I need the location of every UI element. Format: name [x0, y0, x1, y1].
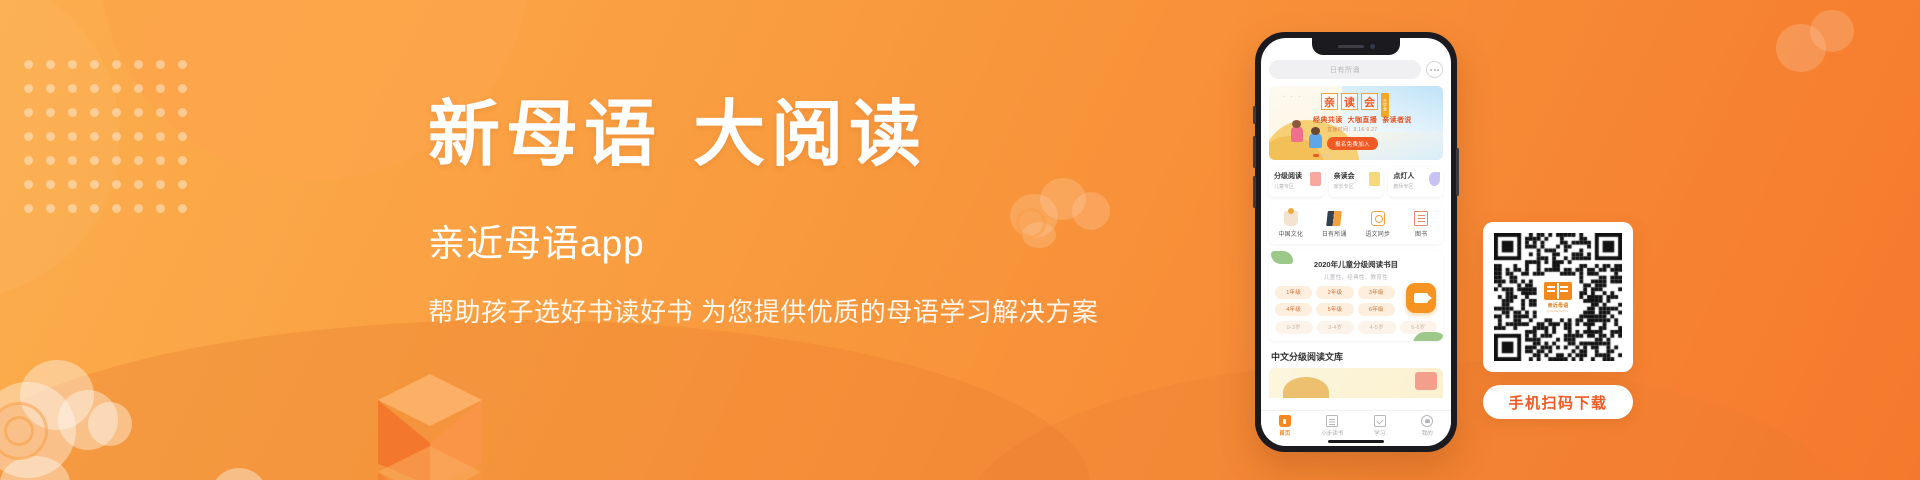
- quick-item-label: 语文同步: [1365, 229, 1390, 238]
- promo-feature: 亲读者说: [1382, 115, 1412, 125]
- search-placeholder: 日有所诵: [1330, 65, 1360, 75]
- promo-feature: 经典共读: [1313, 115, 1343, 125]
- qr-code-card[interactable]: 亲近母语 QINJIN MUYU: [1483, 222, 1633, 372]
- promo-banner: 新母语 大阅读 亲近母语app 帮助孩子选好书读好书 为您提供优质的母语学习解决…: [0, 0, 1920, 480]
- quick-item-culture[interactable]: 中国文化: [1269, 211, 1313, 238]
- front-camera: [1370, 44, 1375, 49]
- age-tag[interactable]: 0-3岁: [1275, 321, 1313, 334]
- booklist-card: 2020年儿童分级阅读书目 儿童性、经典性、教育性 1年级 2年级 3年级 4年…: [1269, 251, 1443, 341]
- promo-card[interactable]: · · · 亲 读 会 开学季 经典共读 大咖直播 亲读者说 直播时间：9.16…: [1269, 86, 1443, 160]
- tab-home[interactable]: 首页: [1261, 415, 1309, 437]
- home-icon: [1279, 415, 1291, 427]
- promo-title-char: 读: [1341, 93, 1358, 110]
- phone-screen: 日有所诵 · · · 亲 读 会: [1261, 38, 1451, 446]
- profile-icon: [1421, 415, 1433, 427]
- tab-label: 学习: [1374, 429, 1385, 437]
- booklist-subtitle: 儿童性、经典性、教育性: [1275, 273, 1437, 281]
- brand-logo: 亲近母语 QINJIN MUYU: [1537, 276, 1579, 318]
- library-title: 中文分级阅读文库: [1269, 348, 1443, 368]
- age-tag[interactable]: 3-4岁: [1317, 321, 1355, 334]
- book-badge-icon: [1310, 172, 1321, 186]
- grade-tag[interactable]: 2年级: [1316, 286, 1353, 299]
- brand-pinyin: QINJIN MUYU: [1547, 310, 1568, 313]
- decor-cloud-top-right: [1776, 10, 1896, 90]
- search-row: 日有所诵: [1269, 60, 1443, 79]
- library-square-decor: [1415, 372, 1437, 390]
- grade-tag[interactable]: 5年级: [1316, 303, 1353, 316]
- promo-title-char: 亲: [1321, 93, 1338, 110]
- quick-item-recite[interactable]: 日有所诵: [1313, 211, 1357, 238]
- promo-date: 直播时间：9.16-9.27: [1327, 126, 1377, 133]
- study-icon: [1374, 415, 1386, 427]
- quick-item-books[interactable]: 图书: [1400, 211, 1444, 238]
- quick-item-label: 中国文化: [1278, 229, 1303, 238]
- promo-child-a: [1291, 126, 1303, 142]
- phone-mute-switch: [1253, 106, 1256, 124]
- grade-tag-grid: 1年级 2年级 3年级 4年级 5年级 6年级: [1275, 286, 1395, 316]
- library-card[interactable]: [1269, 368, 1443, 398]
- home-indicator: [1328, 440, 1384, 443]
- age-tag[interactable]: 4-5岁: [1358, 321, 1396, 334]
- brand-name: 亲近母语: [1548, 302, 1569, 309]
- library-arc-decor: [1283, 377, 1329, 398]
- sync-icon: [1371, 211, 1385, 226]
- phone-power-button: [1456, 148, 1459, 196]
- download-button[interactable]: 手机扫码下载: [1483, 385, 1633, 419]
- age-tag-grid: 0-3岁 3-4岁 4-5岁 5-6岁: [1275, 321, 1437, 334]
- read-icon: [1326, 415, 1338, 427]
- ellipsis-icon[interactable]: [1426, 61, 1443, 78]
- qr-download-block: 亲近母语 QINJIN MUYU 手机扫码下载: [1483, 222, 1633, 419]
- decor-cloud-small: [60, 444, 180, 480]
- video-play-icon[interactable]: [1406, 283, 1436, 313]
- phone-notch: [1312, 38, 1400, 55]
- tab-label: 我的: [1422, 429, 1433, 437]
- speaker-grille: [1338, 45, 1364, 48]
- grade-tag[interactable]: 1年级: [1275, 286, 1312, 299]
- open-book-icon: [1543, 281, 1573, 301]
- banner-tagline: 帮助孩子选好书读好书 为您提供优质的母语学习解决方案: [428, 296, 1148, 330]
- category-card-teacher[interactable]: 点灯人 教师专区: [1388, 167, 1443, 197]
- carousel-dots[interactable]: [1313, 154, 1329, 157]
- promo-feature: 大咖直播: [1348, 115, 1378, 125]
- decor-dot-grid: [24, 60, 200, 228]
- promo-ribbon: 开学季: [1381, 93, 1389, 117]
- promo-title: 亲 读 会 开学季: [1321, 93, 1389, 117]
- category-row: 分级阅读 儿童专区 亲读会 家长专区 点灯人 教师专区: [1269, 167, 1443, 197]
- promo-cta-button[interactable]: 报名免费加入: [1327, 137, 1378, 150]
- birds-icon: · · ·: [1283, 94, 1302, 100]
- book-icon: [1414, 211, 1428, 226]
- promo-child-b: [1309, 133, 1322, 148]
- leaf-decor-icon: [1271, 251, 1293, 264]
- phone-mockup: 日有所诵 · · · 亲 读 会: [1255, 32, 1457, 452]
- lamp-badge-icon: [1429, 172, 1440, 186]
- banner-headline: 新母语 大阅读: [428, 92, 1148, 176]
- tab-profile[interactable]: 我的: [1404, 415, 1452, 437]
- booklist-title: 2020年儿童分级阅读书目: [1275, 259, 1437, 270]
- banner-subhead: 亲近母语app: [428, 222, 1148, 266]
- book-badge-icon: [1369, 172, 1380, 186]
- quick-item-label: 日有所诵: [1322, 229, 1347, 238]
- tab-label: 首页: [1279, 429, 1290, 437]
- decor-cube-small: [378, 446, 448, 480]
- grade-tag[interactable]: 3年级: [1358, 286, 1395, 299]
- quick-icon-row: 中国文化 日有所诵 语文同步 图书: [1269, 204, 1443, 244]
- phone-volume-down: [1253, 176, 1256, 208]
- app-home-screen: 日有所诵 · · · 亲 读 会: [1261, 38, 1451, 446]
- banner-copy: 新母语 大阅读 亲近母语app 帮助孩子选好书读好书 为您提供优质的母语学习解决…: [428, 92, 1148, 330]
- grade-tag[interactable]: 6年级: [1358, 303, 1395, 316]
- quick-item-sync[interactable]: 语文同步: [1356, 211, 1400, 238]
- phone-volume-up: [1253, 136, 1256, 168]
- promo-title-char: 会: [1361, 93, 1378, 110]
- culture-icon: [1284, 211, 1298, 226]
- grade-tag[interactable]: 4年级: [1275, 303, 1312, 316]
- quick-item-label: 图书: [1415, 229, 1427, 238]
- tab-label: 小步读书: [1321, 429, 1343, 437]
- category-card-graded-reading[interactable]: 分级阅读 儿童专区: [1269, 167, 1324, 197]
- tab-read[interactable]: 小步读书: [1309, 415, 1357, 437]
- recite-icon: [1326, 211, 1342, 226]
- category-card-parent-club[interactable]: 亲读会 家长专区: [1329, 167, 1384, 197]
- tab-study[interactable]: 学习: [1356, 415, 1404, 437]
- search-input[interactable]: 日有所诵: [1269, 60, 1421, 79]
- promo-features: 经典共读 大咖直播 亲读者说: [1313, 115, 1412, 125]
